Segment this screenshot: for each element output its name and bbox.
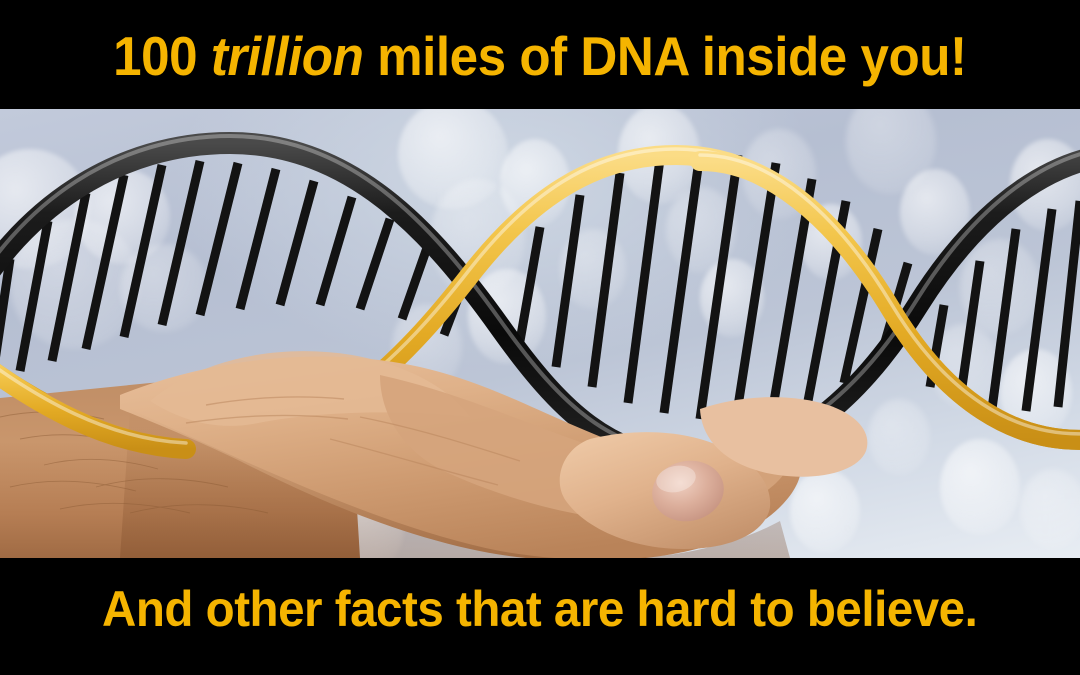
top-headline: 100 trillion miles of DNA inside you! <box>113 29 966 84</box>
hero-photo <box>0 109 1080 558</box>
headline-emphasis: trillion <box>211 25 364 87</box>
bottom-headline: And other facts that are hard to believe… <box>102 584 977 634</box>
top-banner: 100 trillion miles of DNA inside you! <box>0 0 1080 109</box>
headline-part-3: miles of DNA inside you! <box>364 25 967 87</box>
hand <box>0 109 1080 558</box>
bottom-banner: And other facts that are hard to believe… <box>0 558 1080 675</box>
poster: 100 trillion miles of DNA inside you! <box>0 0 1080 675</box>
headline-part-1: 100 <box>113 25 211 87</box>
